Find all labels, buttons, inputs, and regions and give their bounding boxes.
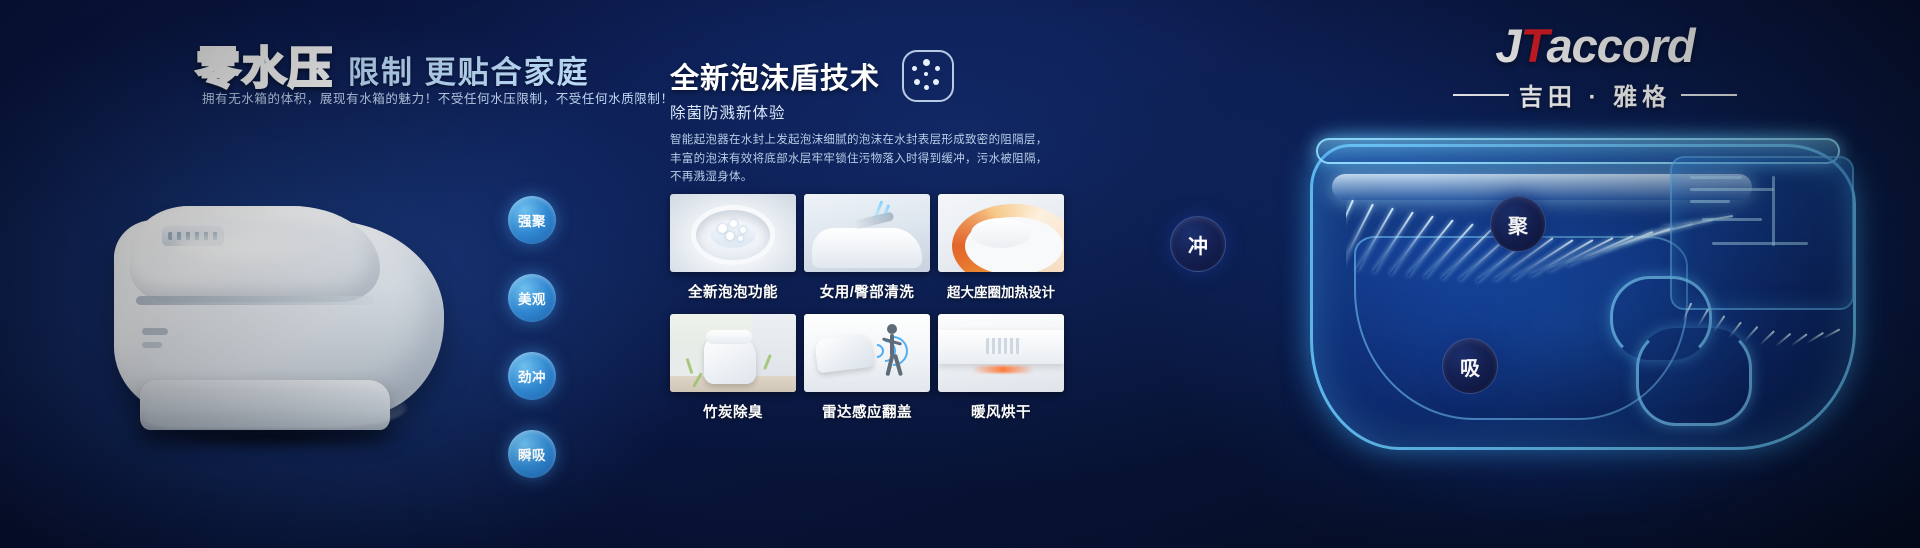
logo-rule-right	[1681, 94, 1737, 96]
middle-section: 全新泡沫盾技术 除菌防溅新体验 智能起泡器在水封上发起泡沫细腻的泡沫在水封表层形…	[660, 0, 1220, 548]
middle-heading-row: 全新泡沫盾技术	[670, 50, 954, 102]
headline-description: 拥有无水箱的体积，展现有水箱的魅力！不受任何水压限制，不受任何水质限制！	[202, 88, 674, 107]
middle-description-line: 智能起泡器在水封上发起泡沫细腻的泡沫在水封表层形成致密的阻隔层，	[670, 131, 1000, 150]
logo-letters-accord: accord	[1546, 19, 1694, 72]
feature-card[interactable]: 暖风烘干	[938, 314, 1064, 422]
feature-label: 竹炭除臭	[670, 401, 796, 422]
feature-grid: 全新泡泡功能 女用/臀部清洗 超大座圈加热设计	[670, 194, 1064, 422]
xray-badge[interactable]: 吸	[1442, 338, 1498, 394]
middle-title: 全新泡沫盾技术	[670, 55, 880, 97]
feature-card[interactable]: 竹炭除臭	[670, 314, 796, 422]
nozzle-wash-thumbnail	[804, 194, 930, 272]
feature-label: 雷达感应翻盖	[804, 401, 930, 422]
headline-row: 零水压 限制 更贴合家庭	[196, 32, 590, 96]
logo-letter-t: T	[1521, 19, 1547, 72]
toilet-seat-seam	[136, 296, 374, 305]
foam-bubble-icon	[902, 50, 954, 102]
feature-card[interactable]: 全新泡泡功能	[670, 194, 796, 302]
pill-badge[interactable]: 强聚	[508, 196, 556, 244]
feature-card[interactable]: 雷达感应翻盖	[804, 314, 930, 422]
feature-label: 女用/臀部清洗	[804, 281, 930, 302]
side-button-upper	[142, 328, 168, 335]
middle-subtitle: 除菌防溅新体验	[670, 101, 786, 123]
right-section: JTaccord 吉田 · 雅格	[1240, 0, 1920, 548]
pill-badge[interactable]: 美观	[508, 274, 556, 322]
feature-card[interactable]: 女用/臀部清洗	[804, 194, 930, 302]
floor-reflection	[146, 388, 406, 428]
left-section: 零水压 限制 更贴合家庭 拥有无水箱的体积，展现有水箱的魅力！不受任何水压限制，…	[0, 0, 640, 548]
headline-main: 零水压	[196, 32, 334, 96]
logo-letter-j: J	[1495, 19, 1520, 72]
bamboo-charcoal-deodorizer-thumbnail	[670, 314, 796, 392]
feature-label: 全新泡泡功能	[670, 281, 796, 302]
left-feature-pill-list: 强聚 美观 劲冲 瞬吸	[508, 196, 556, 478]
logo-rule-left	[1453, 94, 1509, 96]
smart-toilet-product-photo	[96, 128, 476, 448]
xray-badge[interactable]: 冲	[1170, 216, 1226, 272]
middle-description-line: 丰富的泡沫有效将底部水层牢牢锁住污物落入时得到缓冲，污水被阻隔，	[670, 150, 1000, 169]
logo-wordmark: JTaccord	[1430, 22, 1760, 69]
xray-badge[interactable]: 聚	[1490, 196, 1546, 252]
xray-trapway	[1600, 266, 1800, 446]
feature-label: 暖风烘干	[938, 401, 1064, 422]
feature-label: 超大座圈加热设计	[938, 281, 1064, 301]
logo-chinese-row: 吉田 · 雅格	[1430, 77, 1760, 112]
feature-card[interactable]: 超大座圈加热设计	[938, 194, 1064, 302]
foam-bowl-thumbnail	[670, 194, 796, 272]
lid-highlight	[176, 232, 326, 260]
warm-air-dryer-thumbnail	[938, 314, 1064, 392]
product-banner: 零水压 限制 更贴合家庭 拥有无水箱的体积，展现有水箱的魅力！不受任何水压限制，…	[0, 0, 1920, 548]
logo-chinese-name: 吉田 · 雅格	[1519, 77, 1671, 112]
side-button-lower	[142, 342, 162, 348]
pill-badge[interactable]: 劲冲	[508, 352, 556, 400]
middle-description: 智能起泡器在水封上发起泡沫细腻的泡沫在水封表层形成致密的阻隔层， 丰富的泡沫有效…	[670, 131, 1000, 187]
toilet-xray-cutaway-illustration: 冲 聚 吸	[1250, 116, 1910, 536]
heated-seat-ring-thumbnail	[938, 194, 1064, 272]
middle-description-line: 不再溅湿身体。	[670, 168, 1000, 187]
radar-sensor-lid-thumbnail	[804, 314, 930, 392]
brand-logo: JTaccord 吉田 · 雅格	[1430, 22, 1760, 112]
pill-badge[interactable]: 瞬吸	[508, 430, 556, 478]
